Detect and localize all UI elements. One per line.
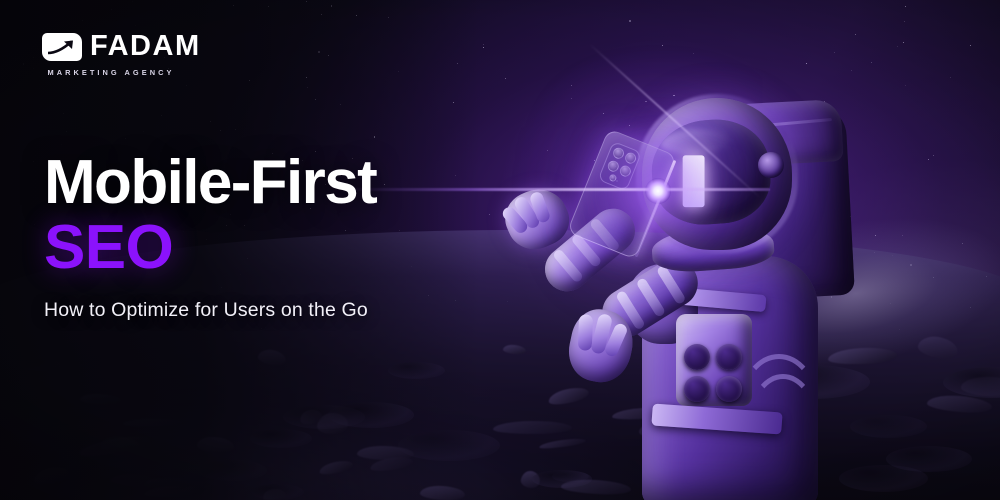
rising-arrow-badge-icon — [42, 33, 82, 61]
rising-arrow-glyph — [48, 40, 76, 55]
seo-marketing-banner: FADAM MARKETING AGENCY Mobile-First SEO … — [0, 0, 1000, 500]
brand-logo[interactable]: FADAM MARKETING AGENCY — [42, 32, 182, 77]
headline-line-2: SEO — [44, 216, 504, 279]
headline-line-1: Mobile-First — [44, 153, 504, 214]
logo-tagline: MARKETING AGENCY — [43, 68, 179, 77]
headline-block: Mobile-First SEO How to Optimize for Use… — [44, 153, 504, 322]
subtitle-text: How to Optimize for Users on the Go — [44, 299, 504, 322]
logo-wordmark: FADAM — [90, 32, 201, 61]
